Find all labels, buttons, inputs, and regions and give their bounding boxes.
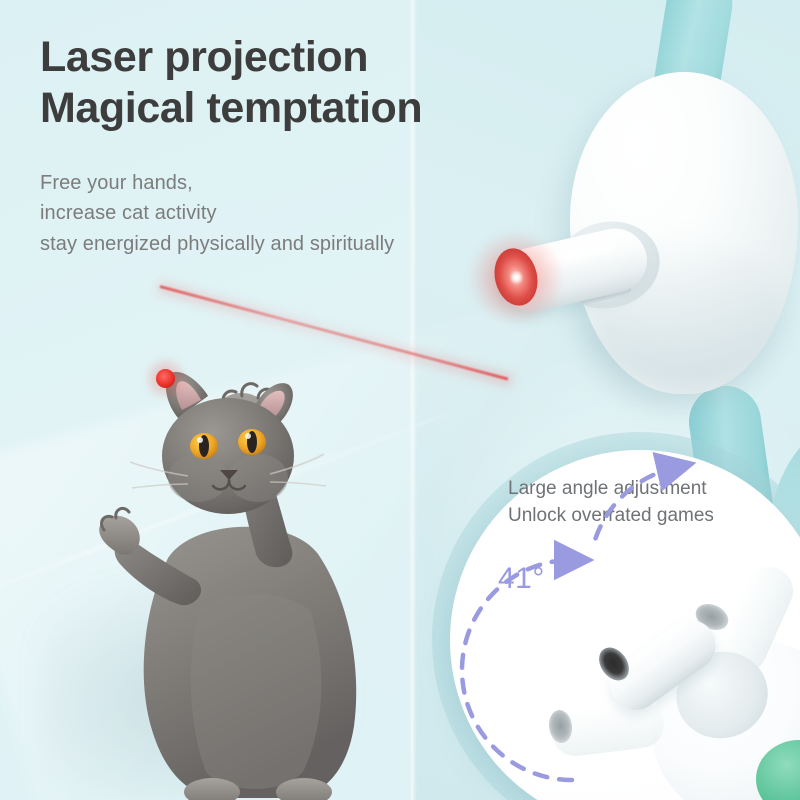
rotation-arc-icon (450, 450, 800, 800)
laser-dot-icon (156, 369, 175, 388)
angle-value-label: 41° (498, 562, 545, 596)
product-banner: Laser projection Magical temptation Free… (0, 0, 800, 800)
headline-line-2: Magical temptation (40, 83, 560, 134)
subhead-line-1: Free your hands, (40, 168, 560, 198)
headline-line-1: Laser projection (40, 32, 560, 83)
page-title: Laser projection Magical temptation (40, 32, 560, 133)
cat-illustration (60, 358, 400, 800)
subhead-line-2: increase cat activity (40, 198, 560, 228)
